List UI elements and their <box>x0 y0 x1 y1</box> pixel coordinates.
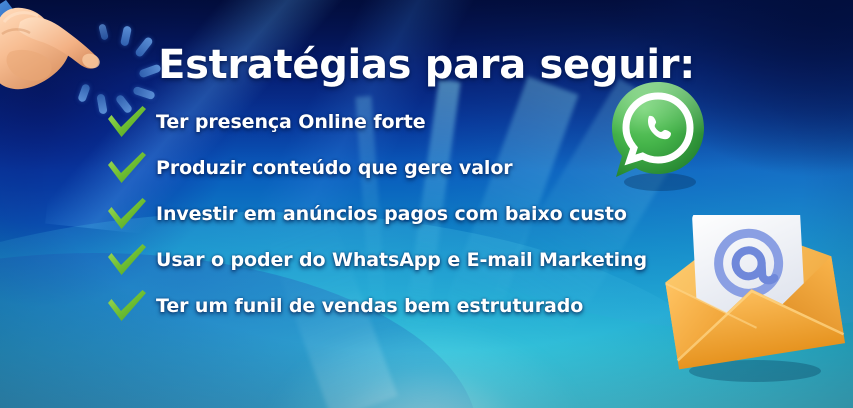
list-item-label: Investir em anúncios pagos com baixo cus… <box>156 203 627 225</box>
green-check-icon <box>106 288 148 324</box>
list-item: Produzir conteúdo que gere valor <box>106 149 647 187</box>
list-item-label: Produzir conteúdo que gere valor <box>156 157 513 179</box>
list-item-label: Ter presença Online forte <box>156 111 425 133</box>
impact-ray <box>132 86 155 100</box>
promo-banner: Estratégias para seguir: Ter presença On… <box>0 0 853 408</box>
list-item: Usar o poder do WhatsApp e E-mail Market… <box>106 241 647 279</box>
impact-ray <box>138 63 161 78</box>
email-envelope-icon <box>655 215 851 383</box>
green-check-icon <box>106 150 148 186</box>
impact-ray <box>134 36 154 58</box>
pointing-hand-icon <box>0 0 122 104</box>
list-item: Ter um funil de vendas bem estruturado <box>106 287 647 325</box>
whatsapp-icon <box>606 78 710 194</box>
list-item: Ter presença Online forte <box>106 103 647 141</box>
strategy-checklist: Ter presença Online forte Produzir conte… <box>106 103 647 325</box>
green-check-icon <box>106 242 148 278</box>
green-check-icon <box>106 196 148 232</box>
list-item-label: Ter um funil de vendas bem estruturado <box>156 295 583 317</box>
list-item-label: Usar o poder do WhatsApp e E-mail Market… <box>156 249 647 271</box>
list-item: Investir em anúncios pagos com baixo cus… <box>106 195 647 233</box>
